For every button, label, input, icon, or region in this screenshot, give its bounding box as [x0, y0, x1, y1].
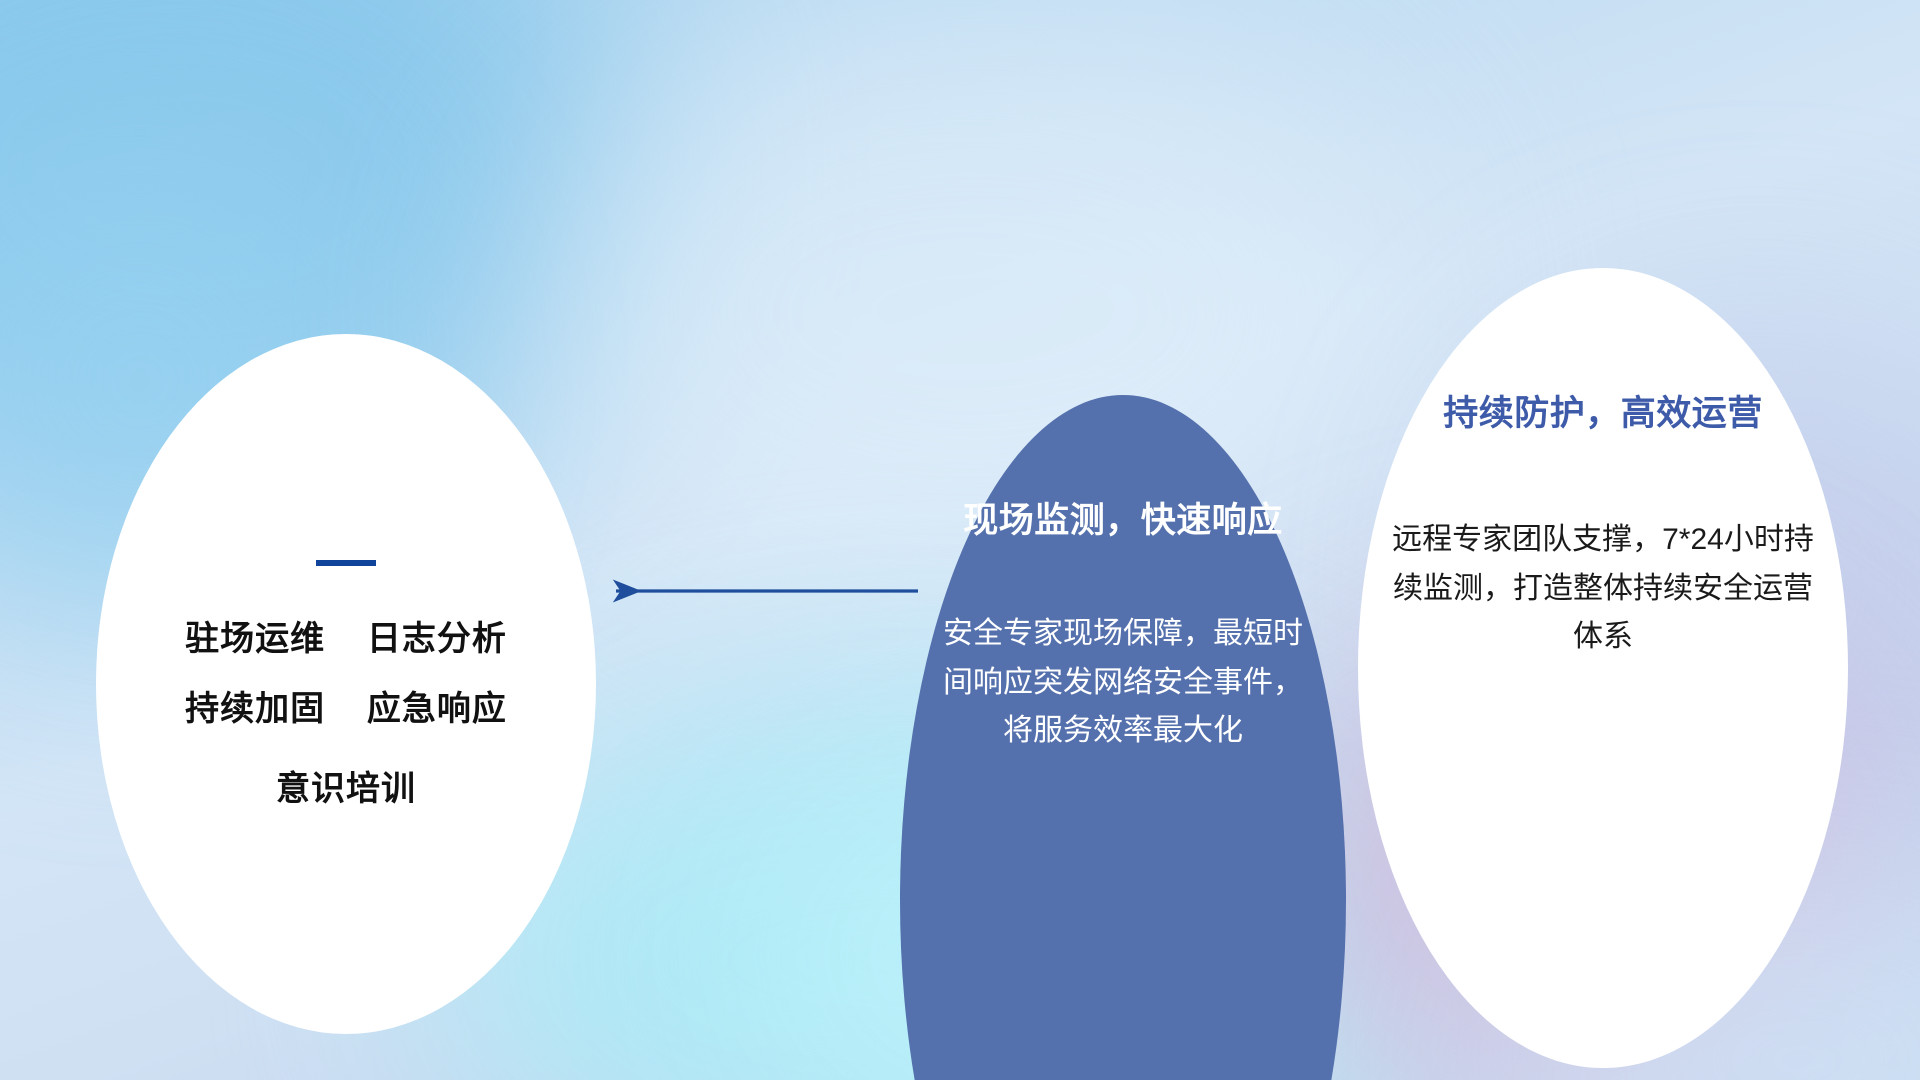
connector-arrow — [600, 556, 920, 626]
left-circle-content: 驻场运维 日志分析 持续加固 应急响应 意识培训 — [96, 334, 596, 1034]
slide-canvas: 驻场运维 日志分析 持续加固 应急响应 意识培训 现场监测，快速响应 安全专家现… — [0, 0, 1920, 1080]
right-circle-shape[interactable] — [1358, 268, 1848, 1068]
left-circle-line-1: 驻场运维 日志分析 — [185, 622, 507, 658]
left-circle-line-3: 意识培训 — [276, 772, 416, 808]
left-circle-line-2: 持续加固 应急响应 — [185, 692, 507, 728]
blue-divider-dash — [316, 560, 376, 566]
